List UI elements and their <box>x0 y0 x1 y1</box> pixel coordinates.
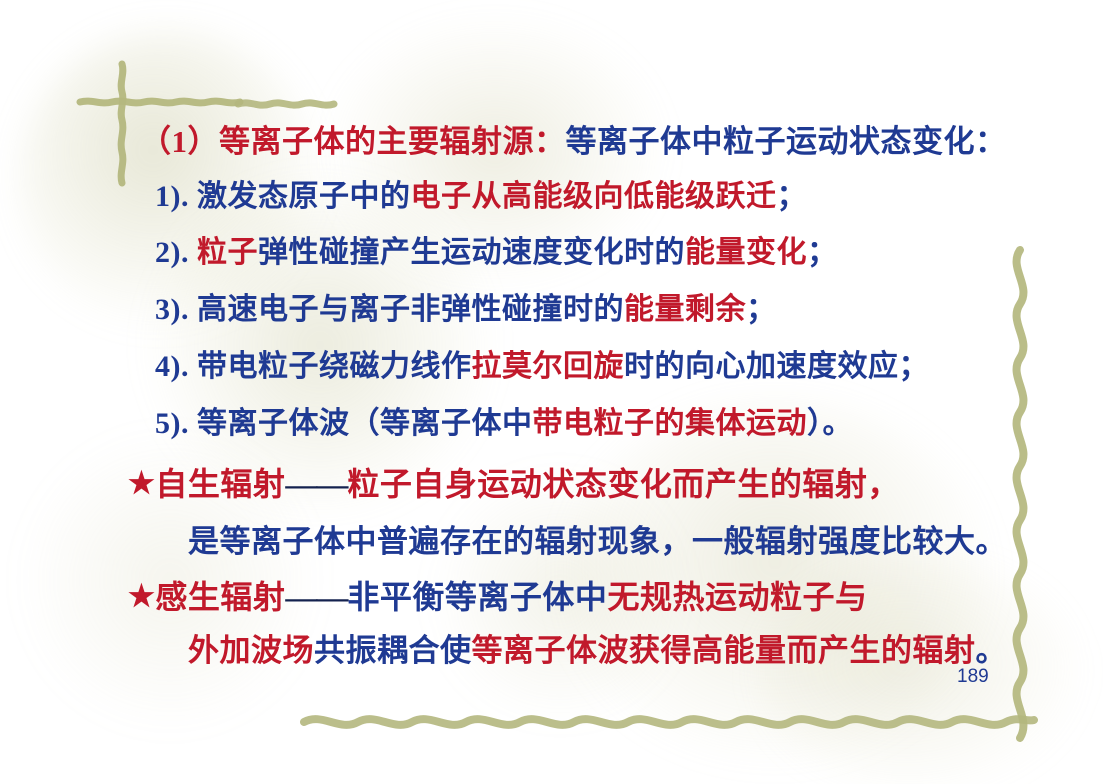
list-item-text-blue: 等离子体波（等离子体中 <box>197 407 533 440</box>
starred-term: 感生辐射 <box>155 579 285 615</box>
starred-definition-text-blue: 非平衡等离子体中 <box>347 579 607 615</box>
list-item-index: 5). <box>155 407 189 440</box>
starred-definition-continuation: 是等离子体中普遍存在的辐射现象，一般辐射强度比较大。 <box>188 516 1007 561</box>
page-number: 189 <box>957 666 989 688</box>
starred-term: 自生辐射 <box>155 466 285 502</box>
list-item: 2). 粒子弹性碰撞产生运动速度变化时的能量变化； <box>155 227 838 271</box>
list-item-index: 4). <box>155 350 189 383</box>
em-dash-separator: —— <box>285 466 347 502</box>
list-item-index: 3). <box>155 293 189 326</box>
starred-definition-text-blue: 共振耦合使 <box>314 633 472 668</box>
list-item-index: 1). <box>155 180 189 213</box>
list-item-text-red: 能量变化 <box>685 236 807 269</box>
heading-line: （1）等离子体的主要辐射源：等离子体中粒子运动状态变化： <box>140 116 1007 161</box>
slide-canvas: （1）等离子体的主要辐射源：等离子体中粒子运动状态变化： 1). 激发态原子中的… <box>0 0 1111 784</box>
starred-definition-continuation: 外加波场共振耦合使等离子体波获得高能量而产生的辐射。 <box>188 625 1007 670</box>
starred-definition-text: 粒子自身运动状态变化而产生的辐射， <box>347 466 900 502</box>
heading-blue-text: 等离子体中粒子运动状态变化： <box>566 124 1007 159</box>
list-item-text-blue: ； <box>746 293 777 326</box>
em-dash-separator: —— <box>285 579 347 615</box>
list-item-index: 2). <box>155 236 189 269</box>
starred-definition: ★自生辐射——粒子自身运动状态变化而产生的辐射， <box>128 459 900 505</box>
list-item-text-blue: ）。 <box>807 407 853 440</box>
list-item-text-blue: ； <box>777 180 808 213</box>
heading-red-text: 等离子体的主要辐射源： <box>219 124 566 159</box>
list-item-text-blue: 高速电子与离子非弹性碰撞时的 <box>197 293 624 326</box>
list-item: 5). 等离子体波（等离子体中带电粒子的集体运动）。 <box>155 398 853 442</box>
starred-definition-text-red: 等离子体波获得高能量而产生的辐射 <box>472 633 976 668</box>
list-item-text-blue: 激发态原子中的 <box>197 180 411 213</box>
list-item-text-red: 粒子 <box>197 236 258 269</box>
list-item: 4). 带电粒子绕磁力线作拉莫尔回旋时的向心加速度效应； <box>155 341 929 385</box>
starred-definition-text-red: 外加波场 <box>188 633 314 668</box>
star-bullet-icon: ★ <box>128 467 155 500</box>
decorative-wavy-line-top <box>236 92 366 116</box>
list-item-text-red: 拉莫尔回旋 <box>472 350 625 383</box>
heading-marker: （1） <box>140 124 219 159</box>
list-item: 3). 高速电子与离子非弹性碰撞时的能量剩余； <box>155 284 777 328</box>
starred-definition-text-red: 无规热运动粒子与 <box>607 579 867 615</box>
starred-definition-text-blue: 。 <box>976 633 1008 668</box>
decorative-wavy-line-right <box>1000 246 1040 746</box>
list-item-text-blue: ； <box>807 236 838 269</box>
list-item-text-red: 能量剩余 <box>624 293 746 326</box>
list-item-text-blue: 弹性碰撞产生运动速度变化时的 <box>258 236 685 269</box>
starred-definition: ★感生辐射——非平衡等离子体中无规热运动粒子与 <box>128 572 867 618</box>
list-item-text-blue: 时的向心加速度效应； <box>624 350 929 383</box>
decorative-wavy-line-bottom <box>300 706 1040 736</box>
star-bullet-icon: ★ <box>128 580 155 613</box>
list-item: 1). 激发态原子中的电子从高能级向低能级跃迁； <box>155 171 807 215</box>
starred-definition-text-blue: 是等离子体中普遍存在的辐射现象，一般辐射强度比较大。 <box>188 524 1007 559</box>
list-item-text-blue: 带电粒子绕磁力线作 <box>197 350 472 383</box>
list-item-text-red: 带电粒子的集体运动 <box>533 407 808 440</box>
list-item-text-red: 电子从高能级向低能级跃迁 <box>411 180 777 213</box>
